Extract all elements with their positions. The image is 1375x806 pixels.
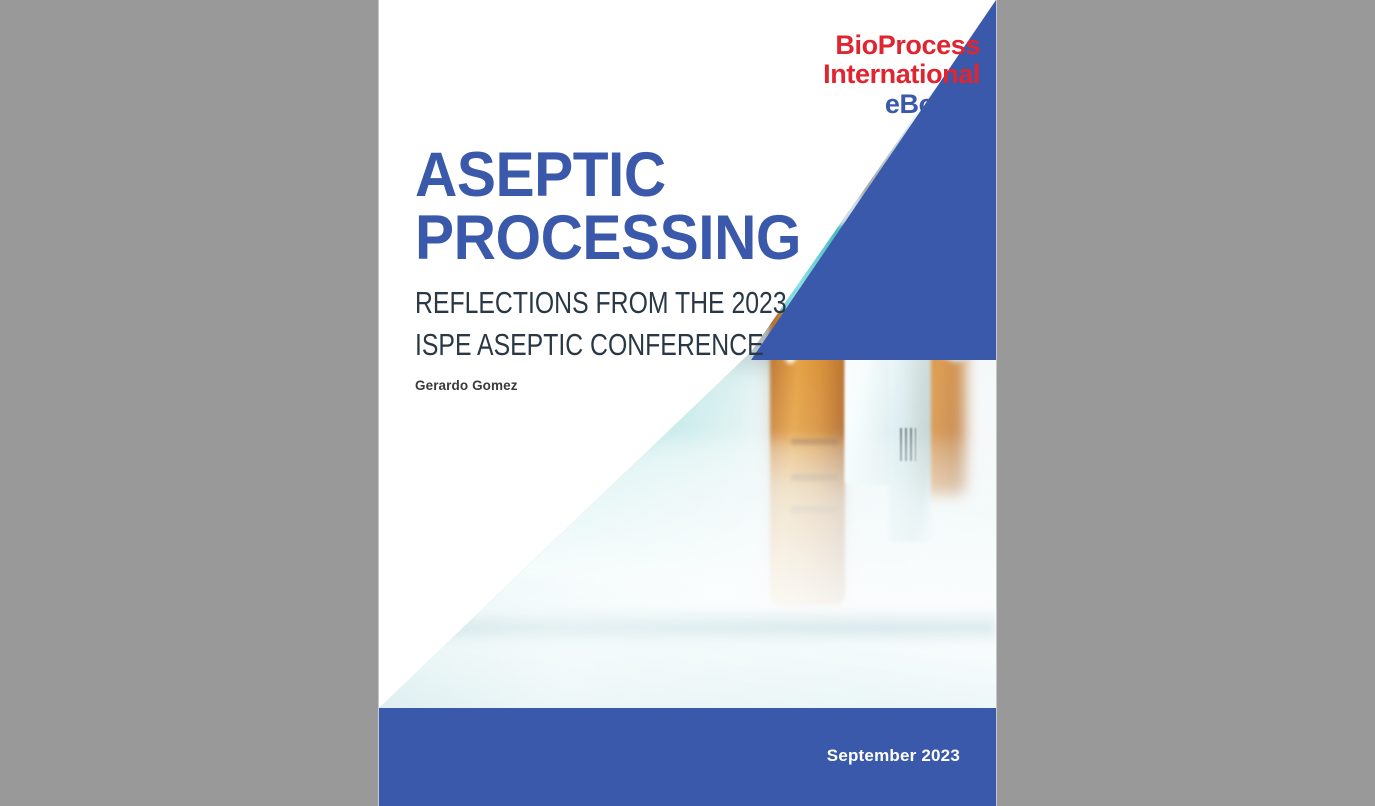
cover-date: September 2023 xyxy=(827,746,960,766)
logo-line-bioprocess: BioProcess xyxy=(650,32,980,59)
cover-bottom-band: September 2023 xyxy=(379,708,996,806)
vial-cap xyxy=(385,425,431,471)
title-line-processing: PROCESSING xyxy=(415,208,801,269)
ebook-cover-page: BioProcess International eBooks ASEPTIC … xyxy=(379,0,996,806)
vial-cap xyxy=(431,404,477,450)
cover-title: ASEPTIC PROCESSING xyxy=(415,145,830,269)
subtitle-line-2: ISPE ASEPTIC CONFERENCE xyxy=(415,324,787,366)
logo-line-ebooks: eBooks xyxy=(650,91,980,118)
logo-line-international: International xyxy=(650,61,980,88)
screenshot-viewport: BioProcess International eBooks ASEPTIC … xyxy=(0,0,1375,806)
cover-subtitle: REFLECTIONS FROM THE 2023 ISPE ASEPTIC C… xyxy=(415,282,880,366)
bioprocess-international-ebooks-logo: BioProcess International eBooks xyxy=(650,32,980,118)
title-line-aseptic: ASEPTIC xyxy=(415,145,801,206)
cover-author: Gerardo Gomez xyxy=(415,378,518,393)
subtitle-line-1: REFLECTIONS FROM THE 2023 xyxy=(415,282,787,324)
